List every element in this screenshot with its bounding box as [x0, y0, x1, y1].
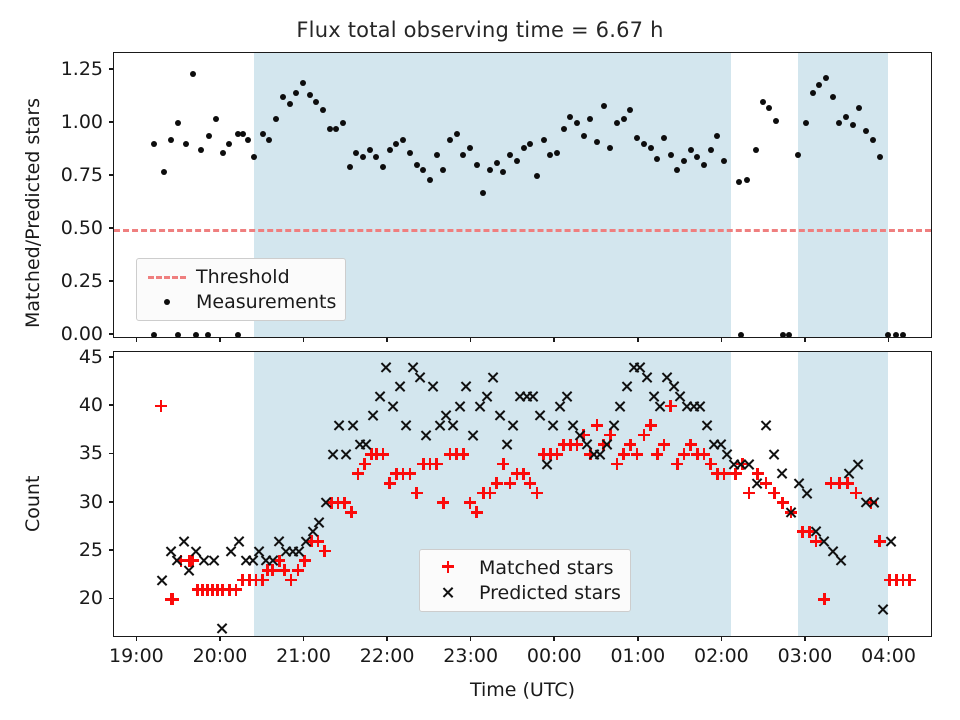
data-point-matched-star [319, 545, 331, 557]
data-point-measurement [753, 147, 759, 153]
x-tick-label: 23:00 [443, 645, 498, 667]
data-point-measurement [534, 173, 540, 179]
data-point-measurement [701, 162, 707, 168]
legend-item-predicted-stars: Predicted stars [429, 580, 621, 605]
figure-title: Flux total observing time = 6.67 h [0, 18, 960, 42]
x-axis-label: Time (UTC) [470, 679, 575, 701]
data-point-measurement [795, 152, 801, 158]
data-point-measurement [514, 158, 520, 164]
data-point-measurement [273, 116, 279, 122]
data-point-matched-star [431, 458, 443, 470]
legend-label-threshold: Threshold [190, 266, 290, 288]
data-point-predicted-star [527, 390, 540, 403]
y-tick-mark-bottom [109, 598, 113, 600]
data-point-measurement [213, 116, 219, 122]
data-point-measurement [607, 145, 613, 151]
y-tick-mark-top [109, 68, 113, 70]
data-point-predicted-star [654, 400, 667, 413]
x-tick-label: 21:00 [276, 645, 331, 667]
x-tick-label: 02:00 [694, 645, 749, 667]
x-tick-mark-top [637, 338, 639, 342]
data-point-measurement [547, 152, 553, 158]
data-point-predicted-star [216, 622, 229, 635]
data-point-measurement [803, 120, 809, 126]
y-tick-mark-bottom [109, 501, 113, 503]
data-point-measurement [773, 118, 779, 124]
data-point-predicted-star [347, 419, 360, 432]
data-point-measurement [541, 137, 547, 143]
data-point-measurement [714, 133, 720, 139]
x-tick-mark-top [136, 338, 138, 342]
data-point-predicted-star [694, 400, 707, 413]
legend-label-measurements: Measurements [190, 291, 336, 313]
y-tick-label-bottom: 20 [28, 587, 103, 609]
data-point-predicted-star [743, 458, 756, 471]
data-point-matched-star [404, 468, 416, 480]
dashed-line-icon [146, 267, 190, 287]
legend-item-threshold: Threshold [146, 264, 336, 289]
data-point-matched-star [345, 506, 357, 518]
data-point-measurement [870, 137, 876, 143]
data-point-predicted-star [500, 438, 513, 451]
data-point-predicted-star [876, 603, 889, 616]
data-point-predicted-star [487, 371, 500, 384]
bottom-panel-legend: Matched stars Predicted stars [419, 549, 631, 612]
x-tick-mark-bottom [219, 637, 221, 641]
data-point-measurement [387, 147, 393, 153]
data-point-measurement [193, 332, 199, 338]
data-point-measurement [708, 147, 714, 153]
data-point-measurement [738, 332, 744, 338]
data-point-matched-star [167, 593, 179, 605]
data-point-measurement [447, 137, 453, 143]
x-tick-mark-bottom [721, 637, 723, 641]
data-point-measurement [877, 154, 883, 160]
data-point-measurement [407, 150, 413, 156]
data-point-measurement [581, 133, 587, 139]
y-tick-label-top: 1.25 [28, 58, 103, 80]
data-point-measurement [266, 137, 272, 143]
data-point-predicted-star [560, 390, 573, 403]
plus-marker-icon [429, 558, 473, 578]
data-point-measurement [816, 82, 822, 88]
data-point-measurement [380, 164, 386, 170]
data-point-matched-star [874, 535, 886, 547]
data-point-predicted-star [885, 535, 898, 548]
y-tick-mark-top [109, 227, 113, 229]
data-point-measurement [474, 162, 480, 168]
data-point-measurement [561, 126, 567, 132]
x-tick-label: 04:00 [861, 645, 916, 667]
data-point-measurement [856, 105, 862, 111]
data-point-predicted-star [427, 380, 440, 393]
x-tick-mark-bottom [888, 637, 890, 641]
data-point-measurement [507, 152, 513, 158]
data-point-predicted-star [326, 448, 339, 461]
data-point-predicted-star [614, 400, 627, 413]
data-point-measurement [420, 167, 426, 173]
x-tick-mark-bottom [470, 637, 472, 641]
data-point-measurement [467, 145, 473, 151]
figure-root: Flux total observing time = 6.67 h 0.000… [0, 0, 960, 720]
data-point-measurement [333, 126, 339, 132]
data-point-predicted-star [453, 400, 466, 413]
y-tick-label-bottom: 35 [28, 442, 103, 464]
x-tick-mark-bottom [804, 637, 806, 641]
x-tick-mark-bottom [637, 637, 639, 641]
data-point-matched-star [497, 458, 509, 470]
data-point-measurement [766, 105, 772, 111]
data-point-measurement [353, 150, 359, 156]
data-point-measurement [863, 128, 869, 134]
legend-label-predicted-stars: Predicted stars [473, 582, 621, 604]
data-point-predicted-star [420, 429, 433, 442]
data-point-matched-star [471, 506, 483, 518]
data-point-measurement [634, 135, 640, 141]
x-tick-label: 01:00 [610, 645, 665, 667]
data-point-predicted-star [851, 458, 864, 471]
data-point-predicted-star [367, 409, 380, 422]
data-point-predicted-star [360, 438, 373, 451]
data-point-measurement [190, 71, 196, 77]
data-point-predicted-star [380, 361, 393, 374]
data-point-matched-star [818, 593, 830, 605]
data-point-measurement [688, 147, 694, 153]
data-point-measurement [850, 122, 856, 128]
legend-item-matched-stars: Matched stars [429, 555, 621, 580]
data-point-predicted-star [340, 448, 353, 461]
data-point-predicted-star [601, 438, 614, 451]
y-tick-mark-top [109, 333, 113, 335]
data-point-measurement [480, 190, 486, 196]
data-point-measurement [161, 169, 167, 175]
data-point-predicted-star [768, 448, 781, 461]
data-point-predicted-star [460, 380, 473, 393]
x-tick-mark-top [888, 338, 890, 342]
data-point-measurement [830, 94, 836, 100]
y-tick-mark-bottom [109, 549, 113, 551]
data-point-predicted-star [393, 380, 406, 393]
data-point-measurement [198, 147, 204, 153]
data-point-measurement [648, 145, 654, 151]
data-point-measurement [151, 141, 157, 147]
data-point-measurement [313, 99, 319, 105]
x-tick-mark-top [303, 338, 305, 342]
data-point-measurement [641, 141, 647, 147]
data-point-measurement [487, 167, 493, 173]
x-tick-label: 19:00 [109, 645, 164, 667]
data-point-measurement [300, 80, 306, 86]
x-tick-mark-top [721, 338, 723, 342]
y-tick-mark-bottom [109, 404, 113, 406]
x-tick-label: 00:00 [527, 645, 582, 667]
data-point-matched-star [437, 497, 449, 509]
data-point-matched-star [155, 400, 167, 412]
data-point-measurement [885, 332, 891, 338]
data-point-measurement [393, 141, 399, 147]
data-point-predicted-star [534, 409, 547, 422]
x-tick-mark-top [219, 338, 221, 342]
data-point-measurement [674, 167, 680, 173]
data-point-measurement [744, 177, 750, 183]
y-tick-label-bottom: 25 [28, 539, 103, 561]
data-point-predicted-star [621, 380, 634, 393]
data-point-measurement [235, 332, 241, 338]
data-point-measurement [260, 131, 266, 137]
data-point-predicted-star [759, 419, 772, 432]
data-point-measurement [414, 162, 420, 168]
data-point-measurement [320, 107, 326, 113]
x-tick-mark-bottom [136, 637, 138, 641]
data-point-matched-star [645, 419, 657, 431]
y-tick-mark-bottom [109, 453, 113, 455]
x-tick-mark-bottom [553, 637, 555, 641]
data-point-predicted-star [507, 419, 520, 432]
data-point-predicted-star [868, 496, 881, 509]
dot-marker-icon [146, 292, 190, 312]
data-point-measurement [245, 137, 251, 143]
data-point-measurement [373, 154, 379, 160]
data-point-measurement [175, 120, 181, 126]
top-panel-legend: Threshold Measurements [136, 258, 346, 321]
data-point-predicted-star [547, 419, 560, 432]
data-point-matched-star [411, 487, 423, 499]
cross-marker-icon [429, 583, 473, 603]
y-tick-mark-top [109, 174, 113, 176]
data-point-measurement [893, 332, 899, 338]
data-point-predicted-star [607, 419, 620, 432]
data-point-measurement [780, 332, 786, 338]
data-point-predicted-star [373, 390, 386, 403]
data-point-matched-star [491, 477, 503, 489]
x-tick-mark-top [553, 338, 555, 342]
data-point-measurement [440, 167, 446, 173]
data-point-measurement [205, 332, 211, 338]
data-point-measurement [843, 114, 849, 120]
data-point-measurement [810, 90, 816, 96]
data-point-measurement [183, 141, 189, 147]
data-point-measurement [307, 92, 313, 98]
data-point-measurement [627, 107, 633, 113]
data-point-predicted-star [801, 487, 814, 500]
data-point-measurement [654, 156, 660, 162]
top-panel-y-axis-label: Matched/Predicted stars [22, 98, 44, 328]
data-point-predicted-star [413, 371, 426, 384]
data-point-measurement [836, 120, 842, 126]
data-point-measurement [360, 154, 366, 160]
data-point-measurement [587, 116, 593, 122]
data-point-measurement [900, 332, 906, 338]
data-point-measurement [434, 152, 440, 158]
y-tick-label-bottom: 45 [28, 346, 103, 368]
data-point-measurement [527, 141, 533, 147]
data-point-measurement [494, 160, 500, 166]
data-point-measurement [400, 137, 406, 143]
data-point-measurement [347, 164, 353, 170]
x-tick-mark-bottom [386, 637, 388, 641]
data-point-measurement [500, 169, 506, 175]
legend-label-matched-stars: Matched stars [473, 557, 613, 579]
data-point-measurement [427, 177, 433, 183]
data-point-measurement [240, 131, 246, 137]
legend-item-measurements: Measurements [146, 289, 336, 314]
bottom-panel-y-axis-label: Count [22, 476, 44, 532]
data-point-measurement [340, 120, 346, 126]
data-point-measurement [226, 141, 232, 147]
data-point-predicted-star [387, 400, 400, 413]
data-point-matched-star [531, 487, 543, 499]
data-point-measurement [206, 133, 212, 139]
data-point-predicted-star [208, 554, 221, 567]
data-point-measurement [554, 150, 560, 156]
y-tick-mark-top [109, 121, 113, 123]
data-point-measurement [287, 101, 293, 107]
data-point-measurement [614, 120, 620, 126]
data-point-predicted-star [784, 506, 797, 519]
data-point-predicted-star [641, 371, 654, 384]
data-point-matched-star [377, 448, 389, 460]
data-point-measurement [574, 120, 580, 126]
data-point-predicted-star [447, 419, 460, 432]
data-point-measurement [668, 152, 674, 158]
data-point-measurement [151, 332, 157, 338]
x-tick-mark-top [470, 338, 472, 342]
data-point-predicted-star [751, 477, 764, 490]
data-point-predicted-star [183, 564, 196, 577]
x-tick-mark-bottom [303, 637, 305, 641]
data-point-measurement [694, 154, 700, 160]
data-point-measurement [786, 332, 792, 338]
data-point-predicted-star [776, 467, 789, 480]
data-point-predicted-star [701, 419, 714, 432]
x-tick-label: 20:00 [193, 645, 248, 667]
data-point-matched-star [904, 574, 916, 586]
x-tick-mark-top [804, 338, 806, 342]
data-point-predicted-star [320, 496, 333, 509]
data-point-predicted-star [313, 516, 326, 529]
data-point-matched-star [658, 439, 670, 451]
data-point-measurement [367, 147, 373, 153]
y-tick-label-bottom: 40 [28, 394, 103, 416]
data-point-measurement [293, 90, 299, 96]
data-point-measurement [521, 145, 527, 151]
y-tick-mark-bottom [109, 356, 113, 358]
data-point-measurement [168, 137, 174, 143]
data-point-measurement [721, 158, 727, 164]
data-point-matched-star [591, 419, 603, 431]
data-point-measurement [280, 94, 286, 100]
data-point-measurement [594, 139, 600, 145]
data-point-measurement [760, 99, 766, 105]
data-point-predicted-star [333, 419, 346, 432]
data-point-predicted-star [480, 390, 493, 403]
data-point-predicted-star [540, 458, 553, 471]
data-point-measurement [621, 116, 627, 122]
data-point-measurement [460, 152, 466, 158]
data-point-predicted-star [233, 535, 246, 548]
data-point-measurement [567, 114, 573, 120]
data-point-measurement [175, 332, 181, 338]
x-tick-label: 03:00 [778, 645, 833, 667]
data-point-measurement [327, 126, 333, 132]
data-point-predicted-star [494, 409, 507, 422]
data-point-measurement [681, 158, 687, 164]
data-point-measurement [601, 103, 607, 109]
y-tick-mark-top [109, 280, 113, 282]
data-point-measurement [251, 154, 257, 160]
data-point-measurement [220, 150, 226, 156]
data-point-predicted-star [467, 429, 480, 442]
x-tick-mark-top [386, 338, 388, 342]
data-point-predicted-star [266, 554, 279, 567]
data-point-predicted-star [835, 554, 848, 567]
data-point-measurement [736, 179, 742, 185]
data-point-predicted-star [400, 419, 413, 432]
data-point-measurement [823, 75, 829, 81]
data-point-measurement [454, 131, 460, 137]
data-point-measurement [661, 135, 667, 141]
data-point-matched-star [457, 448, 469, 460]
data-point-matched-star [631, 448, 643, 460]
x-tick-label: 22:00 [360, 645, 415, 667]
data-point-predicted-star [156, 574, 169, 587]
